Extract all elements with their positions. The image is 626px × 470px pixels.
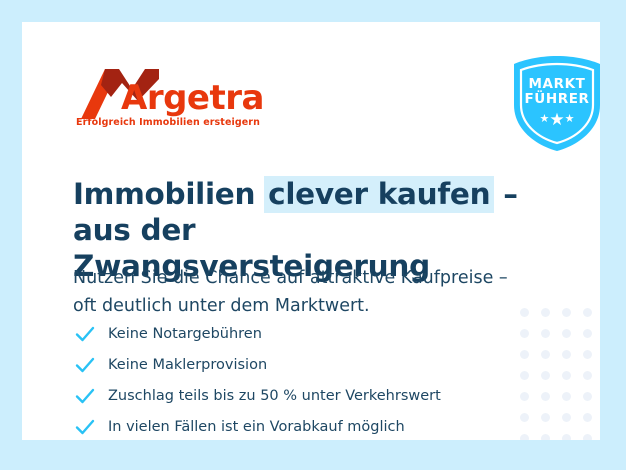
list-item-label: In vielen Fällen ist ein Vorabkauf mögli… bbox=[108, 417, 405, 437]
badge-line-1: MARKT bbox=[511, 77, 600, 92]
dot bbox=[562, 371, 571, 380]
dot bbox=[583, 434, 592, 440]
argetra-logo[interactable]: Argetra Erfolgreich Immobilien ersteiger… bbox=[75, 67, 265, 135]
dot bbox=[541, 371, 550, 380]
badge-stars: ★★★ bbox=[511, 111, 600, 128]
banner-card: Argetra Erfolgreich Immobilien ersteiger… bbox=[22, 22, 600, 440]
dot bbox=[541, 434, 550, 440]
list-item: Keine Maklerprovision bbox=[74, 349, 524, 380]
star-icon-left: ★ bbox=[540, 113, 550, 125]
check-icon bbox=[74, 416, 96, 438]
dot bbox=[562, 329, 571, 338]
check-icon bbox=[74, 323, 96, 345]
list-item: Zuschlag teils bis zu 50 % unter Verkehr… bbox=[74, 380, 524, 411]
dot bbox=[583, 413, 592, 422]
dot bbox=[583, 329, 592, 338]
list-item-label: Keine Maklerprovision bbox=[108, 355, 267, 375]
dot bbox=[583, 371, 592, 380]
benefit-list: Keine Notargebühren Keine Maklerprovisio… bbox=[74, 318, 524, 440]
list-item: Keine Notargebühren bbox=[74, 318, 524, 349]
dot bbox=[562, 434, 571, 440]
logo-tagline: Erfolgreich Immobilien ersteigern bbox=[76, 117, 260, 128]
badge-line-2: FÜHRER bbox=[511, 92, 600, 107]
dot bbox=[562, 413, 571, 422]
list-item: In vielen Fällen ist ein Vorabkauf mögli… bbox=[74, 411, 524, 440]
logo-wordmark: Argetra bbox=[121, 81, 264, 115]
dot bbox=[562, 392, 571, 401]
dot bbox=[541, 350, 550, 359]
dot bbox=[583, 308, 592, 317]
subheading-line1: Nutzen Sie die Chance auf attraktive Kau… bbox=[73, 268, 508, 288]
check-icon bbox=[74, 354, 96, 376]
list-item-label: Zuschlag teils bis zu 50 % unter Verkehr… bbox=[108, 386, 441, 406]
subheading-line2: oft deutlich unter dem Marktwert. bbox=[73, 296, 370, 316]
dot bbox=[541, 392, 550, 401]
list-item-label: Keine Notargebühren bbox=[108, 324, 262, 344]
subheading: Nutzen Sie die Chance auf attraktive Kau… bbox=[73, 264, 553, 320]
dot bbox=[583, 350, 592, 359]
dot bbox=[541, 329, 550, 338]
dot-grid-decoration bbox=[520, 308, 600, 440]
star-icon-center: ★ bbox=[549, 110, 564, 129]
dot bbox=[583, 392, 592, 401]
headline-highlight: clever kaufen bbox=[264, 176, 494, 213]
headline-line1-before: Immobilien bbox=[73, 177, 265, 211]
check-icon bbox=[74, 385, 96, 407]
market-leader-badge: MARKT FÜHRER ★★★ bbox=[511, 55, 600, 152]
dot bbox=[562, 350, 571, 359]
badge-text: MARKT FÜHRER bbox=[511, 77, 600, 107]
dot bbox=[562, 308, 571, 317]
dot bbox=[541, 413, 550, 422]
headline-line1-after: – bbox=[493, 177, 517, 211]
promo-banner: Argetra Erfolgreich Immobilien ersteiger… bbox=[0, 0, 626, 470]
star-icon-right: ★ bbox=[565, 113, 575, 125]
